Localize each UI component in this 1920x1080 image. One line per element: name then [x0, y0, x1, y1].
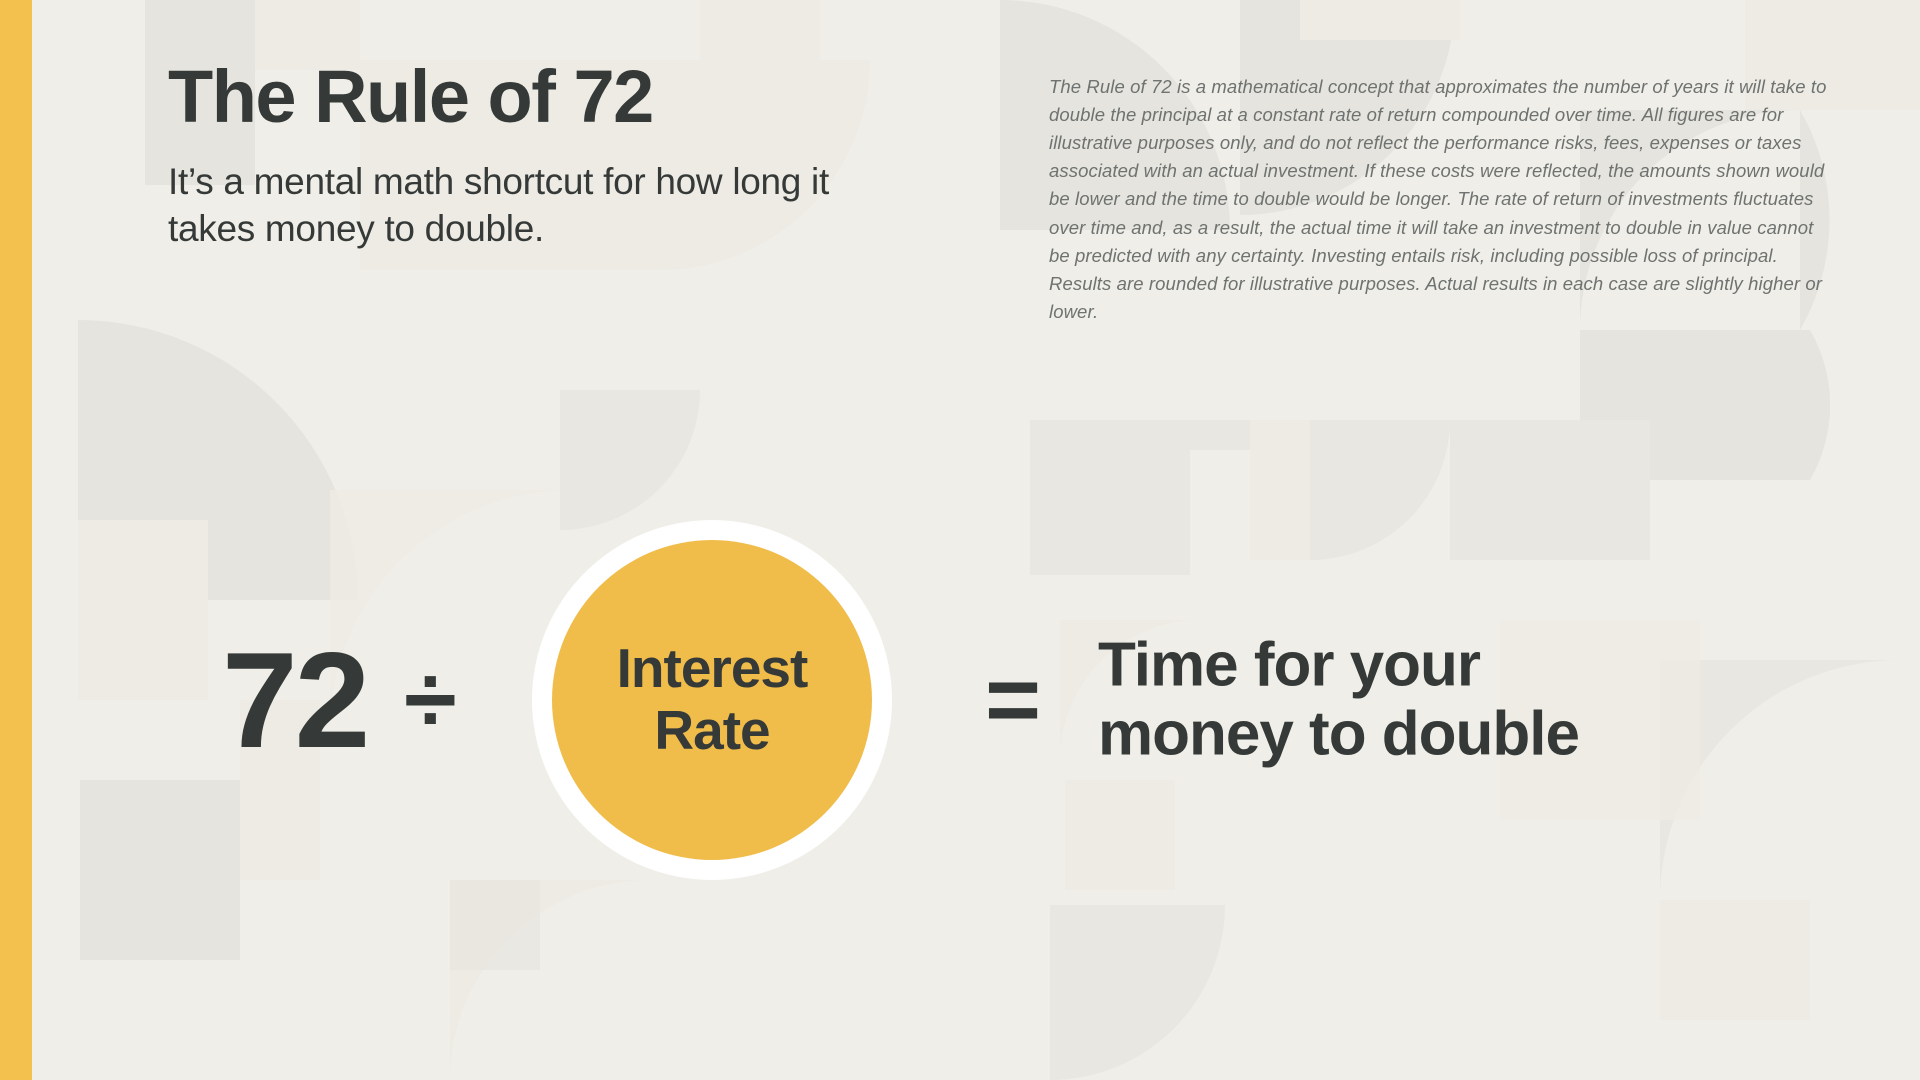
interest-rate-circle: Interest Rate	[532, 520, 892, 880]
header-block: The Rule of 72 It’s a mental math shortc…	[168, 58, 888, 252]
formula-result-line-1: Time for your	[1098, 631, 1480, 700]
equals-symbol-icon: =	[985, 652, 1041, 748]
page-subtitle: It’s a mental math shortcut for how long…	[168, 158, 868, 253]
interest-rate-label-line-1: Interest	[617, 637, 808, 699]
formula-row: 72 ÷ Interest Rate = Time for your money…	[0, 500, 1920, 900]
formula-dividend: 72	[222, 632, 367, 768]
interest-rate-circle-fill: Interest Rate	[552, 540, 872, 860]
left-accent-bar	[0, 0, 32, 1080]
interest-rate-label: Interest Rate	[601, 638, 824, 761]
page-title: The Rule of 72	[168, 58, 888, 136]
formula-result-label: Time for your money to double	[1098, 631, 1718, 770]
divide-symbol-icon: ÷	[404, 652, 457, 748]
formula-result-line-2: money to double	[1098, 700, 1579, 769]
slide-content: The Rule of 72 It’s a mental math shortc…	[0, 0, 1920, 1080]
interest-rate-label-line-2: Rate	[654, 699, 769, 761]
disclaimer-text: The Rule of 72 is a mathematical concept…	[1049, 73, 1839, 326]
